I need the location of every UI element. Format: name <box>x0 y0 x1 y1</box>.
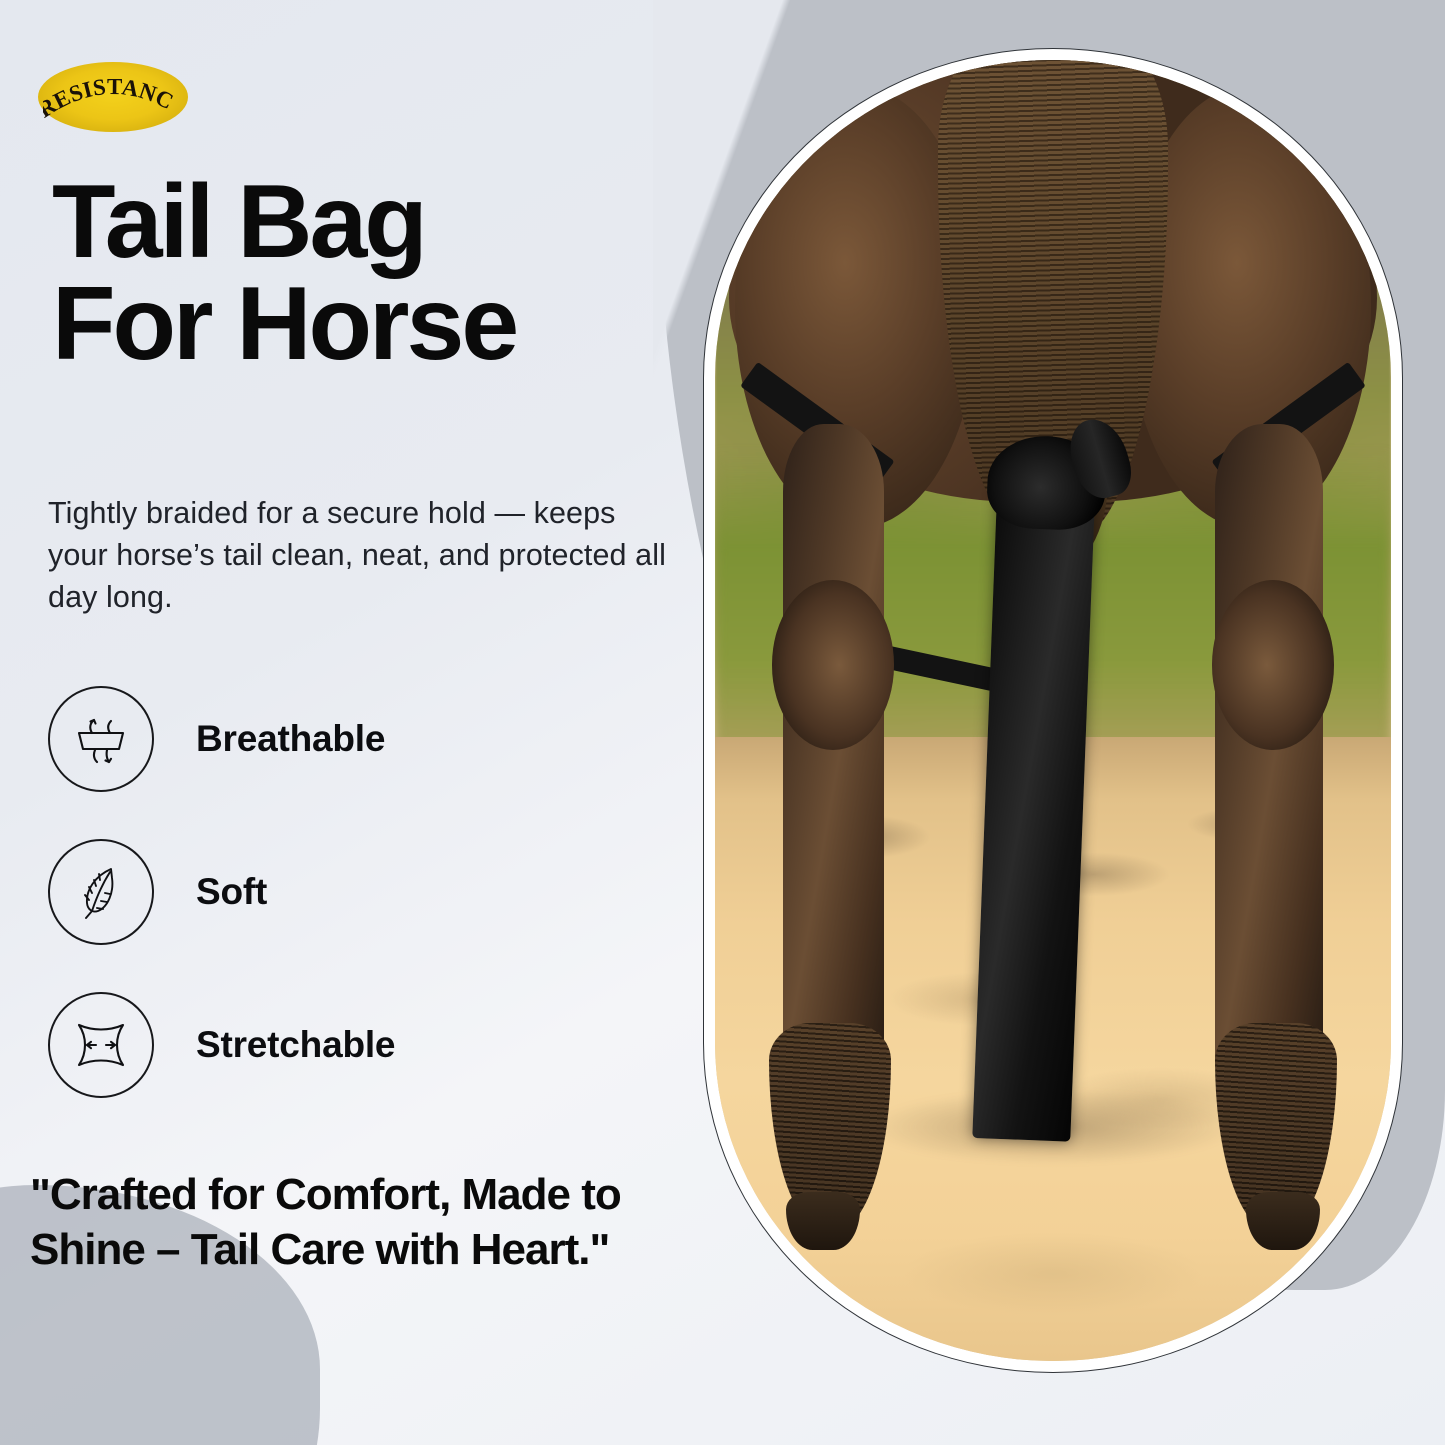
page-title: Tail Bag For Horse <box>52 172 692 376</box>
stretch-arrows-icon <box>48 992 154 1098</box>
svg-text:RESISTANCE: RESISTANCE <box>43 66 178 123</box>
brand-logo: RESISTANCE <box>38 62 188 132</box>
feature-label: Stretchable <box>196 1024 395 1066</box>
breathable-fabric-airflow-icon <box>48 686 154 792</box>
resistance-wordmark-icon: RESISTANCE <box>43 66 183 128</box>
tagline-quote: "Crafted for Comfort, Made to Shine – Ta… <box>30 1168 720 1277</box>
feature-list: Breathable Soft <box>48 685 668 1099</box>
feature-item-breathable: Breathable <box>48 685 668 793</box>
description-text: Tightly braided for a secure hold — keep… <box>48 492 673 618</box>
horse-hind-leg-left <box>783 424 884 1101</box>
promo-graphic: RESISTANCE Tail Bag For Horse Tightly br… <box>0 0 1445 1445</box>
feature-label: Soft <box>196 871 267 913</box>
feature-item-soft: Soft <box>48 838 668 946</box>
horse-hock-left <box>772 580 894 749</box>
headline-line-1: Tail Bag <box>52 164 425 280</box>
logo-text: RESISTANCE <box>43 66 178 123</box>
headline-line-2: For Horse <box>52 274 692 376</box>
horse-hoof-left <box>786 1192 860 1251</box>
feather-icon <box>48 839 154 945</box>
horse-hoof-right <box>1246 1192 1320 1251</box>
quote-line-2: Shine – Tail Care with Heart." <box>30 1225 609 1274</box>
quote-line-1: "Crafted for Comfort, Made to <box>30 1170 621 1219</box>
product-photo-frame <box>703 48 1403 1373</box>
horse-hind-leg-right <box>1215 424 1323 1101</box>
product-photo <box>715 60 1391 1361</box>
feature-label: Breathable <box>196 718 385 760</box>
horse-hock-right <box>1212 580 1334 749</box>
feature-item-stretchable: Stretchable <box>48 991 668 1099</box>
